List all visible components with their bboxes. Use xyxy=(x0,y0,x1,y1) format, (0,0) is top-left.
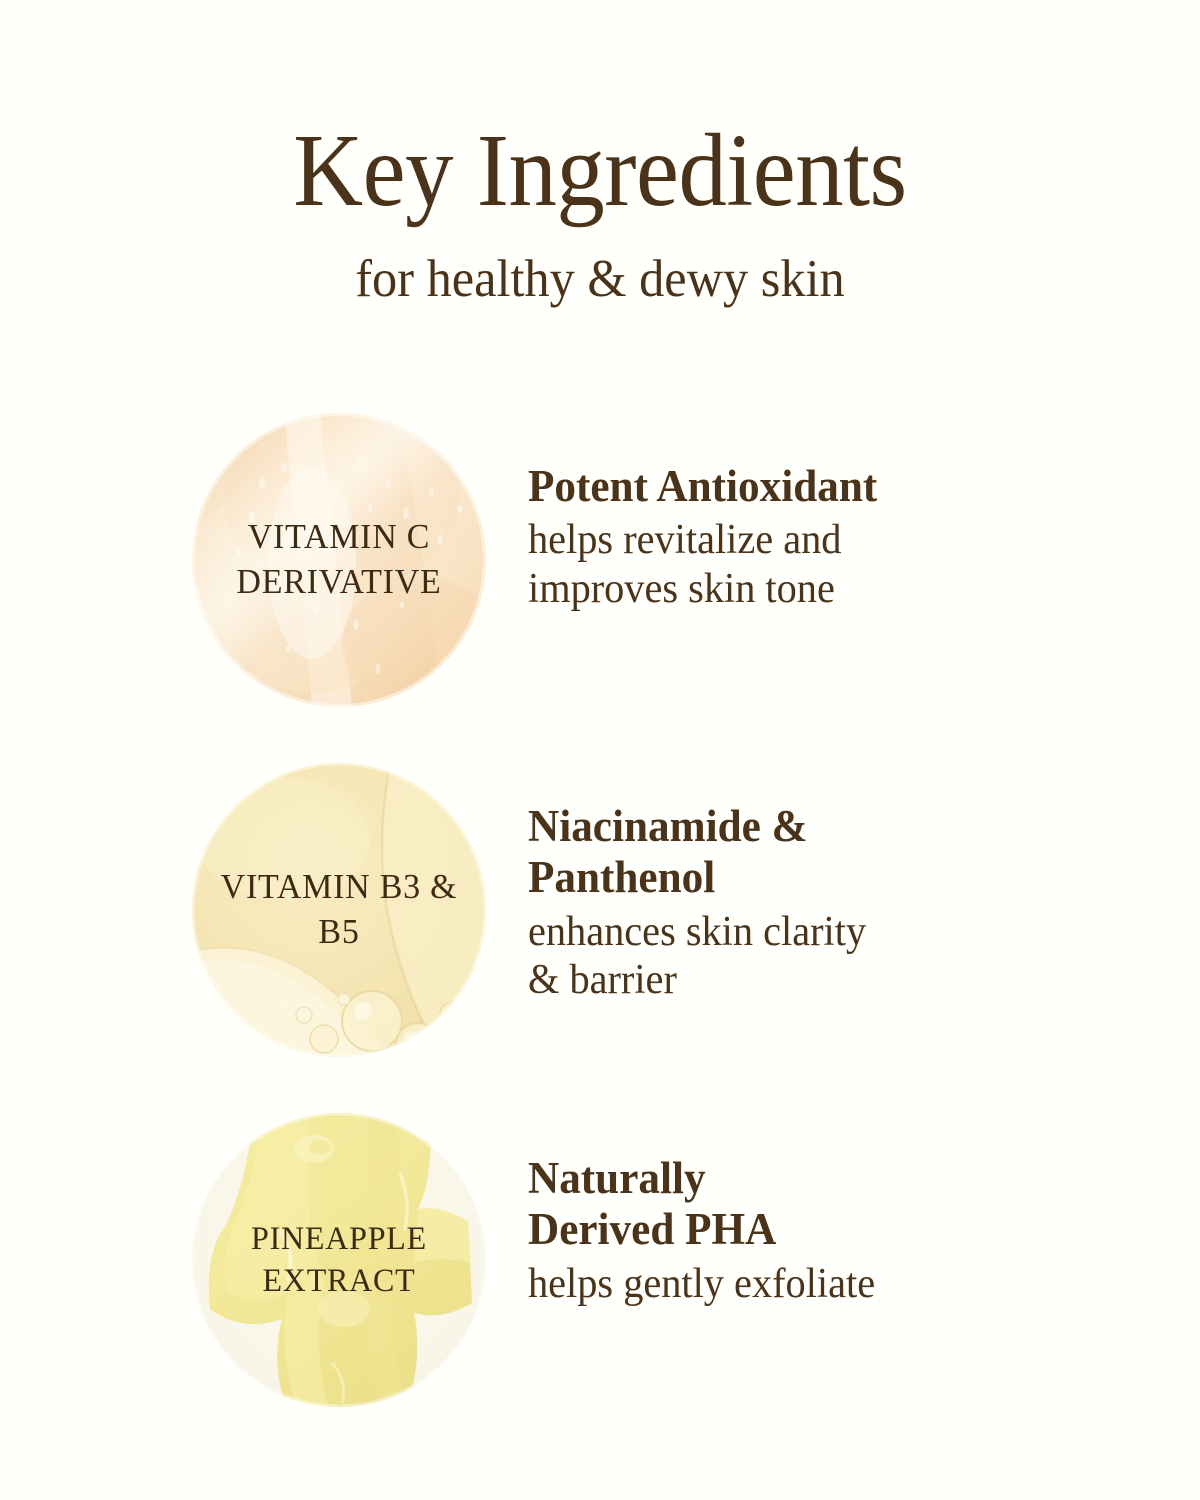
key-ingredients-page: Key Ingredients for healthy & dewy skin xyxy=(0,0,1200,1500)
pineapple-chunk-image: PINEAPPLE EXTRACT xyxy=(192,1113,486,1407)
ingredient-circle-vitamin-c: VITAMIN C DERIVATIVE xyxy=(192,413,486,707)
page-title: Key Ingredients xyxy=(42,118,1158,224)
ingredient-circle-label: VITAMIN B3 & B5 xyxy=(196,865,481,955)
ingredient-heading: Potent Antioxidant xyxy=(528,461,1027,512)
ingredient-heading: Naturally Derived PHA xyxy=(528,1153,1027,1256)
ingredient-row-vitamin-c: VITAMIN C DERIVATIVE Potent Antioxidant … xyxy=(0,413,1200,763)
ingredient-heading: Niacinamide & Panthenol xyxy=(528,801,1027,904)
ingredient-row-vitamin-b: VITAMIN B3 & B5 Niacinamide & Panthenol … xyxy=(0,763,1200,1113)
ingredient-circle-vitamin-b: VITAMIN B3 & B5 xyxy=(192,763,486,1057)
ingredient-circle-pineapple: PINEAPPLE EXTRACT xyxy=(192,1113,486,1407)
ingredient-body: helps gently exfoliate xyxy=(528,1260,1027,1309)
ingredient-list: VITAMIN C DERIVATIVE Potent Antioxidant … xyxy=(0,413,1200,1463)
serum-oil-image: VITAMIN B3 & B5 xyxy=(192,763,486,1057)
ingredient-copy-vitamin-c: Potent Antioxidant helps revitalize and … xyxy=(528,461,1048,614)
citrus-slice-image: VITAMIN C DERIVATIVE xyxy=(192,413,486,707)
header: Key Ingredients for healthy & dewy skin xyxy=(0,0,1200,308)
ingredient-circle-label: PINEAPPLE EXTRACT xyxy=(196,1218,481,1302)
page-subtitle: for healthy & dewy skin xyxy=(30,250,1170,308)
ingredient-circle-label: VITAMIN C DERIVATIVE xyxy=(196,515,481,605)
ingredient-copy-pineapple: Naturally Derived PHA helps gently exfol… xyxy=(528,1153,1048,1308)
ingredient-copy-vitamin-b: Niacinamide & Panthenol enhances skin cl… xyxy=(528,801,1048,1005)
ingredient-body: enhances skin clarity & barrier xyxy=(528,908,1027,1005)
ingredient-body: helps revitalize and improves skin tone xyxy=(528,516,1027,613)
ingredient-row-pineapple: PINEAPPLE EXTRACT Naturally Derived PHA … xyxy=(0,1113,1200,1463)
